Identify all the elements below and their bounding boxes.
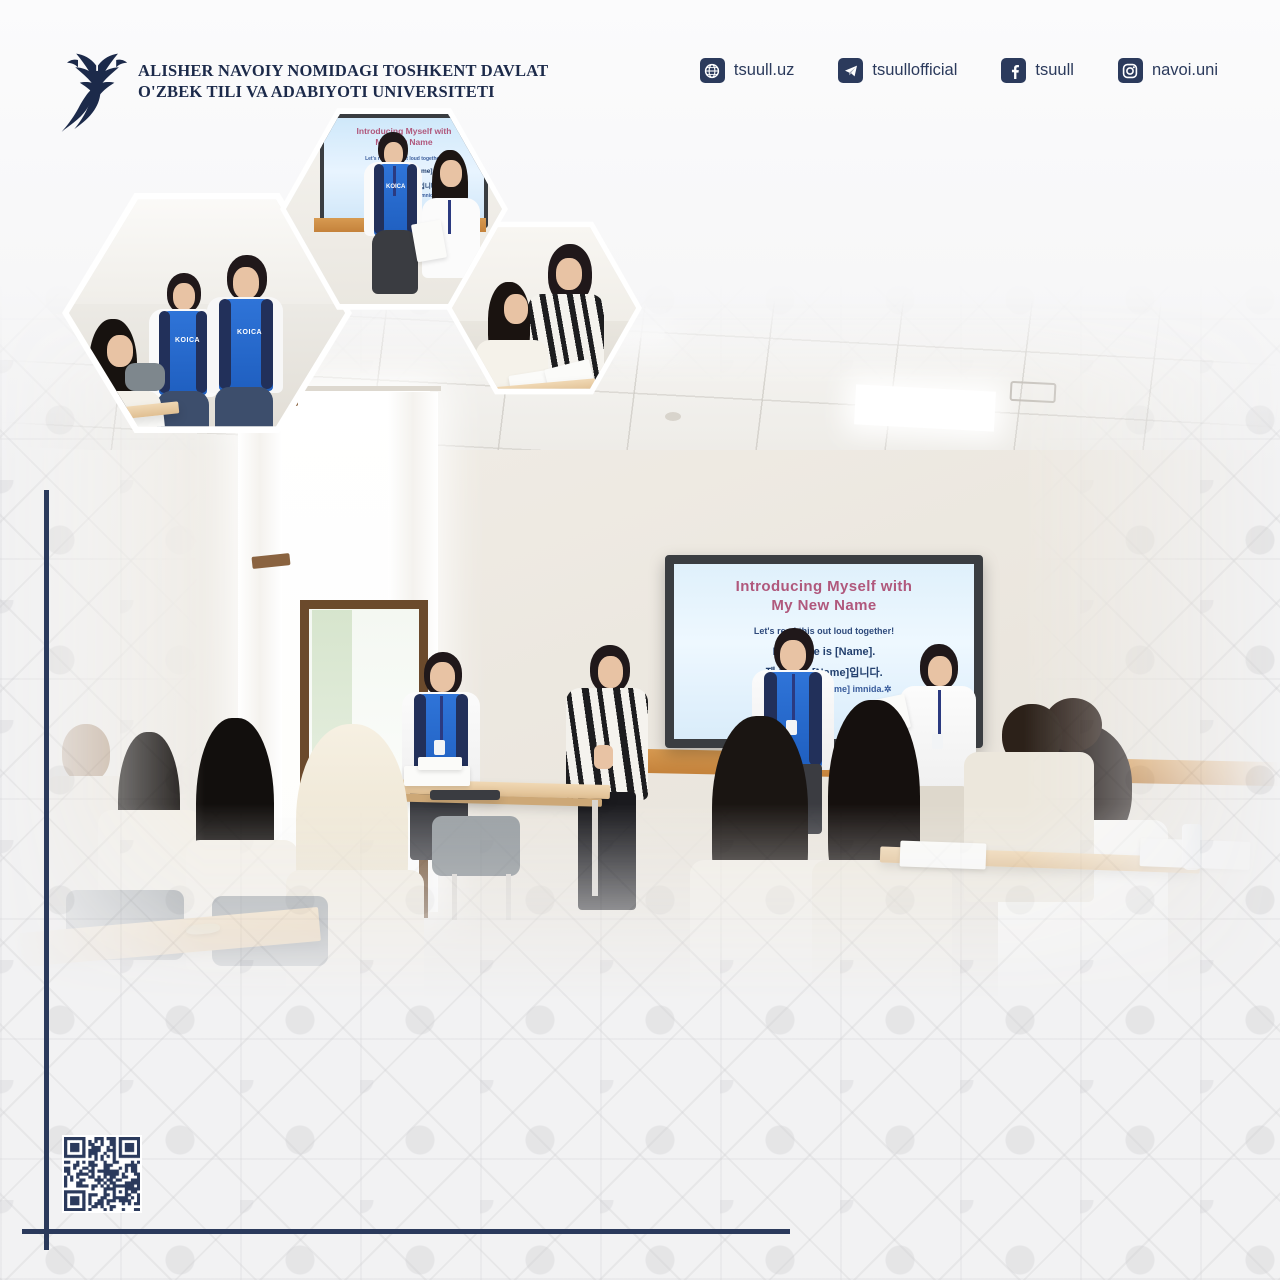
social-label-telegram: tsuullofficial — [872, 61, 957, 80]
university-title: ALISHER NAVOIY NOMIDAGI TOSHKENT DAVLAT … — [138, 60, 568, 103]
social-label-website: tsuull.uz — [734, 61, 795, 80]
social-label-facebook: tsuull — [1035, 61, 1074, 80]
horizontal-frame-line — [22, 1229, 790, 1234]
social-label-instagram: navoi.uni — [1152, 61, 1218, 80]
smoke-detector-icon — [665, 412, 681, 421]
screen-title-line2: My New Name — [674, 597, 974, 616]
screen-subtitle: Let's read this out loud together! — [674, 626, 974, 636]
social-links[interactable]: tsuull.uz tsuullofficial tsuull navoi.un… — [700, 58, 1218, 83]
social-link-instagram[interactable]: navoi.uni — [1118, 58, 1218, 83]
vertical-frame-line — [44, 490, 49, 1250]
social-link-website[interactable]: tsuull.uz — [700, 58, 795, 83]
phoenix-bird-logo — [52, 40, 144, 140]
water-bottle — [1182, 824, 1202, 870]
ceiling-vent — [1010, 381, 1057, 403]
page-header: ALISHER NAVOIY NOMIDAGI TOSHKENT DAVLAT … — [0, 0, 1280, 150]
qr-code[interactable] — [62, 1135, 142, 1213]
social-link-telegram[interactable]: tsuullofficial — [838, 58, 957, 83]
facebook-icon — [1001, 58, 1026, 83]
social-link-facebook[interactable]: tsuull — [1001, 58, 1074, 83]
instagram-icon — [1118, 58, 1143, 83]
globe-icon — [700, 58, 725, 83]
ceiling-light — [854, 384, 996, 431]
chair — [432, 816, 520, 876]
screen-title-line1: Introducing Myself with — [674, 578, 974, 597]
telegram-icon — [838, 58, 863, 83]
